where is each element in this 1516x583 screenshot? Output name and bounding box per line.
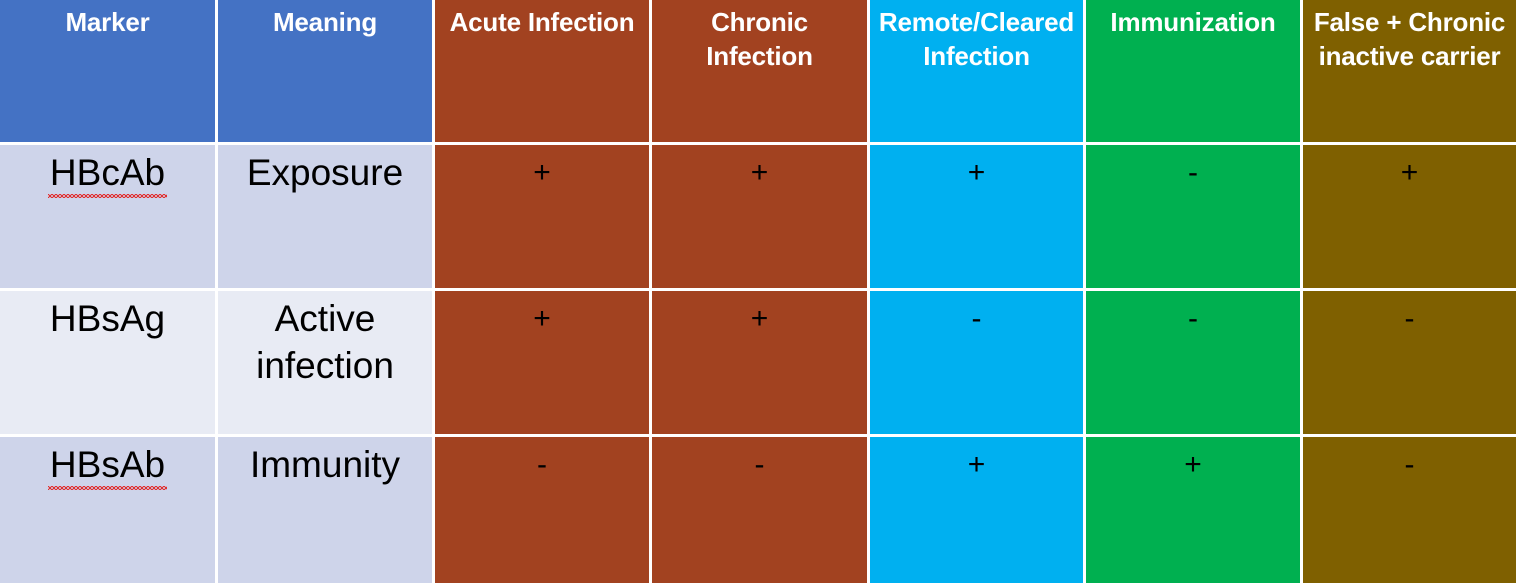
cell-chronic-infection: -	[652, 437, 870, 583]
table-body: HBcAb Exposure + + + - + HBsAg Active in…	[0, 145, 1516, 583]
cell-false-positive: -	[1303, 291, 1516, 437]
cell-acute-infection: +	[435, 145, 652, 291]
cell-meaning: Immunity	[218, 437, 435, 583]
cell-immunization: -	[1086, 291, 1303, 437]
table-row: HBsAg Active infection + + - - -	[0, 291, 1516, 437]
marker-name-misspelled: HBcAb	[50, 149, 165, 198]
cell-marker: HBcAb	[0, 145, 218, 291]
column-header-false-positive-chronic-inactive-carrier: False + Chronic inactive carrier	[1303, 0, 1516, 145]
cell-chronic-infection: +	[652, 145, 870, 291]
column-header-acute-infection: Acute Infection	[435, 0, 652, 145]
column-header-chronic-infection: Chronic Infection	[652, 0, 870, 145]
cell-false-positive: +	[1303, 145, 1516, 291]
cell-acute-infection: -	[435, 437, 652, 583]
cell-meaning: Active infection	[218, 291, 435, 437]
cell-remote-cleared-infection: -	[870, 291, 1086, 437]
column-header-meaning: Meaning	[218, 0, 435, 145]
cell-acute-infection: +	[435, 291, 652, 437]
cell-chronic-infection: +	[652, 291, 870, 437]
column-header-remote-cleared-infection: Remote/Cleared Infection	[870, 0, 1086, 145]
header-row: Marker Meaning Acute Infection Chronic I…	[0, 0, 1516, 145]
table-row: HBsAb Immunity - - + + -	[0, 437, 1516, 583]
cell-remote-cleared-infection: +	[870, 145, 1086, 291]
cell-remote-cleared-infection: +	[870, 437, 1086, 583]
cell-immunization: +	[1086, 437, 1303, 583]
column-header-marker: Marker	[0, 0, 218, 145]
column-header-immunization: Immunization	[1086, 0, 1303, 145]
cell-marker: HBsAb	[0, 437, 218, 583]
hepatitis-b-serology-table: Marker Meaning Acute Infection Chronic I…	[0, 0, 1516, 583]
cell-meaning: Exposure	[218, 145, 435, 291]
marker-name-misspelled: HBsAb	[50, 441, 165, 490]
table-header: Marker Meaning Acute Infection Chronic I…	[0, 0, 1516, 145]
cell-immunization: -	[1086, 145, 1303, 291]
cell-false-positive: -	[1303, 437, 1516, 583]
cell-marker: HBsAg	[0, 291, 218, 437]
table-row: HBcAb Exposure + + + - +	[0, 145, 1516, 291]
